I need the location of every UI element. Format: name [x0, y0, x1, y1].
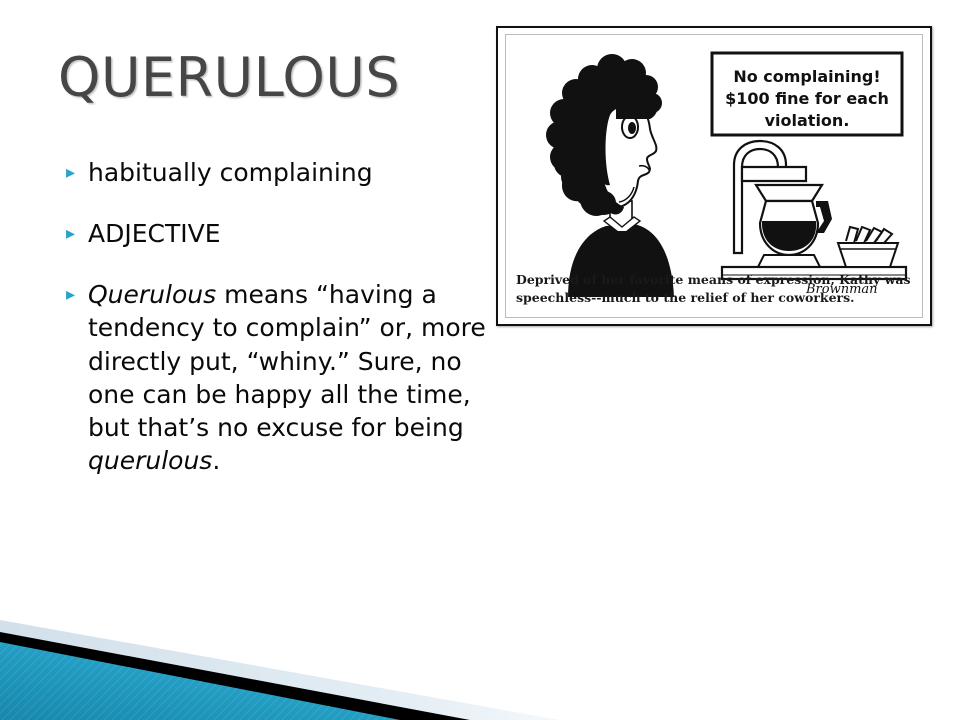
cartoon-inner-frame: No complaining! $100 fine for each viola… [505, 34, 923, 318]
list-item-definition: ▸ Querulous means “having a tendency to … [66, 278, 486, 478]
wall-sign: No complaining! $100 fine for each viola… [712, 53, 902, 135]
decor-teal-texture [0, 642, 400, 720]
decorative-angle-graphic [0, 560, 960, 720]
coffee-maker [722, 141, 906, 279]
decor-teal-band [0, 642, 400, 720]
triangle-bullet-icon: ▸ [66, 278, 88, 306]
caption-line-1: Deprived of her favorite means of expres… [516, 271, 912, 289]
definition-tail-word: querulous [88, 446, 212, 475]
caption-line-2: speechless--much to the relief of her co… [516, 289, 912, 307]
sign-line-1: No complaining! [733, 67, 880, 86]
decor-black-band [0, 632, 470, 720]
woman-figure [546, 54, 674, 297]
list-item: ▸ ADJECTIVE [66, 217, 486, 250]
list-item: ▸ habitually complaining [66, 156, 486, 189]
sign-line-3: violation. [765, 111, 850, 130]
definition-paragraph: Querulous means “having a tendency to co… [88, 278, 486, 478]
triangle-bullet-icon: ▸ [66, 217, 88, 245]
cartoon-caption: Deprived of her favorite means of expres… [516, 271, 912, 307]
definition-lead-word: Querulous [88, 280, 216, 309]
triangle-bullet-icon: ▸ [66, 156, 88, 184]
list-item-label: habitually complaining [88, 156, 373, 189]
definition-period: . [212, 446, 220, 475]
presentation-slide: QUERULOUS ▸ habitually complaining ▸ ADJ… [0, 0, 960, 720]
cartoon-image: No complaining! $100 fine for each viola… [496, 26, 932, 326]
page-title: QUERULOUS [58, 46, 400, 109]
list-item-label: ADJECTIVE [88, 217, 221, 250]
sign-line-2: $100 fine for each [725, 89, 889, 108]
slide-body-list: ▸ habitually complaining ▸ ADJECTIVE ▸ Q… [66, 156, 486, 506]
decor-pale-band [0, 620, 560, 720]
